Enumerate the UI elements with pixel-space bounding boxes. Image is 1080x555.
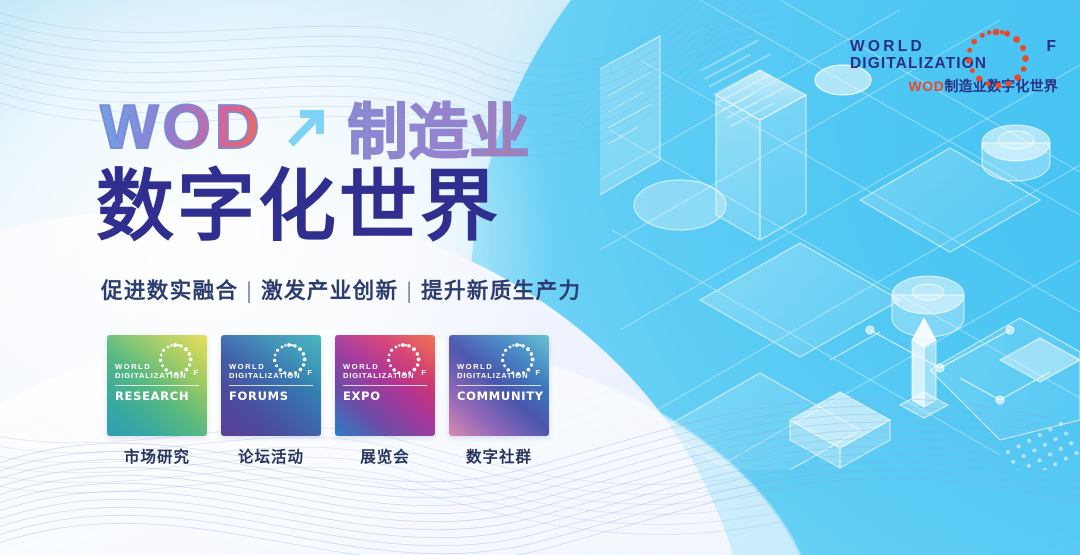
wod-promo-banner: WORLD F DIGITALIZATION WOD制造业数字化世界 WOD 制… (0, 0, 1080, 555)
card-logo: WORLD DIGITALIZATION RESEARCH (115, 362, 201, 403)
card-logo-digitalization: DIGITALIZATION (457, 371, 543, 380)
logo-brand-latin: WOD (908, 78, 944, 94)
card-label: 市场研究 (107, 445, 207, 467)
subtitle-part-2: 激发产业创新 (261, 279, 398, 304)
logo-line-world: WORLD F (850, 38, 1058, 55)
card-logo-world: WORLD (343, 362, 429, 371)
card-logo: WORLD DIGITALIZATION COMMUNITY (457, 362, 543, 403)
dotted-circle-icon (958, 24, 1034, 100)
subtitle-separator-1: | (238, 279, 261, 304)
card-logo: WORLD DIGITALIZATION FORUMS (229, 362, 315, 403)
card-logo: WORLD DIGITALIZATION EXPO (343, 362, 429, 403)
card-tile[interactable]: F WORLD DIGITALIZATION EXPO (335, 335, 435, 436)
subtitle-separator-2: | (398, 279, 421, 304)
program-card-list: F WORLD DIGITALIZATION RESEARCH 市场研究 (107, 335, 549, 467)
card-logo-name: FORUMS (229, 389, 315, 403)
card-label: 展览会 (335, 445, 435, 467)
logo-f-letter: F (1047, 38, 1056, 55)
kicker-wod-text: WOD (100, 92, 264, 163)
card-label: 数字社群 (449, 445, 549, 467)
logo-world-text: WORLD (850, 38, 925, 55)
card-tile[interactable]: F WORLD DIGITALIZATION COMMUNITY (449, 335, 549, 436)
banner-subtitle: 促进数实融合|激发产业创新|提升新质生产力 (101, 274, 581, 305)
card-logo-divider (229, 385, 313, 386)
card-logo-digitalization: DIGITALIZATION (343, 371, 429, 380)
kicker-cn-text: 制造业 (348, 84, 531, 171)
program-card-community[interactable]: F WORLD DIGITALIZATION COMMUNITY 数字社群 (449, 335, 549, 467)
program-card-research[interactable]: F WORLD DIGITALIZATION RESEARCH 市场研究 (107, 335, 207, 467)
subtitle-part-1: 促进数实融合 (101, 279, 238, 304)
card-logo-world: WORLD (229, 362, 315, 371)
card-logo-name: COMMUNITY (457, 389, 543, 403)
card-logo-name: RESEARCH (115, 389, 201, 403)
arrow-up-right-icon (280, 100, 334, 154)
card-tile[interactable]: F WORLD DIGITALIZATION RESEARCH (107, 335, 207, 436)
card-logo-divider (115, 385, 199, 386)
headline-kicker: WOD 制造业 (100, 88, 531, 166)
card-label: 论坛活动 (221, 445, 321, 467)
card-logo-name: EXPO (343, 389, 429, 403)
card-logo-world: WORLD (457, 362, 543, 371)
card-logo-divider (457, 385, 541, 386)
page-title: 数字化世界 (96, 168, 501, 246)
program-card-expo[interactable]: F WORLD DIGITALIZATION EXPO 展览会 (335, 335, 435, 467)
subtitle-part-3: 提升新质生产力 (421, 279, 581, 304)
card-logo-digitalization: DIGITALIZATION (115, 371, 201, 380)
card-logo-divider (343, 385, 427, 386)
card-logo-world: WORLD (115, 362, 201, 371)
card-logo-digitalization: DIGITALIZATION (229, 371, 315, 380)
wod-logo: WORLD F DIGITALIZATION WOD制造业数字化世界 (850, 38, 1058, 96)
card-tile[interactable]: F WORLD DIGITALIZATION FORUMS (221, 335, 321, 436)
program-card-forums[interactable]: F WORLD DIGITALIZATION FORUMS 论坛活动 (221, 335, 321, 467)
